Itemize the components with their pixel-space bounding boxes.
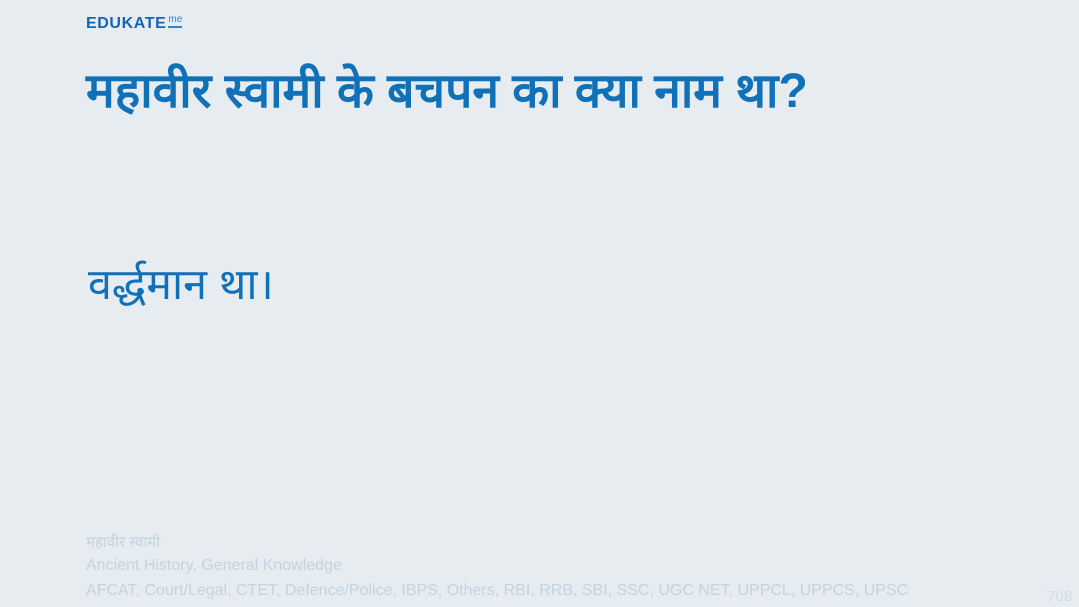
slide-canvas: EDUKATE me महावीर स्वामी के बचपन का क्या… <box>0 0 1079 607</box>
footer-category: Ancient History, General Knowledge <box>86 554 1046 578</box>
page-watermark: 708 <box>1046 588 1073 605</box>
brand-logo[interactable]: EDUKATE me <box>86 16 182 32</box>
question-heading: महावीर स्वामी के बचपन का क्या नाम था? <box>86 58 986 126</box>
brand-logo-suffix: me <box>168 15 182 28</box>
answer-text: वर्द्धमान था। <box>88 258 988 314</box>
brand-logo-name: EDUKATE <box>86 16 166 32</box>
footer-metadata: महावीर स्वामी Ancient History, General K… <box>86 532 1046 603</box>
footer-exams: AFCAT, Court/Legal, CTET, Defence/Police… <box>86 579 1046 603</box>
footer-topic: महावीर स्वामी <box>86 532 1046 555</box>
